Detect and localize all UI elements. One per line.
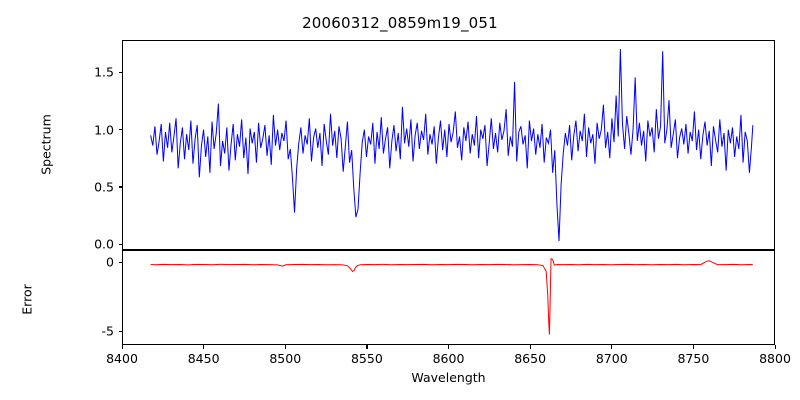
- x-tick-label: 8600: [433, 351, 465, 366]
- error-y-tick-label: 0: [60, 255, 114, 270]
- x-tick: [366, 345, 367, 349]
- error-y-tick: [119, 262, 123, 263]
- spectrum-line-series: [123, 41, 774, 249]
- spectrum-y-tick-label: 1.5: [60, 65, 114, 80]
- error-trace: [151, 259, 753, 335]
- x-tick-label: 8500: [269, 351, 301, 366]
- spectrum-y-tick-label: 0.0: [60, 237, 114, 252]
- x-tick-label: 8700: [596, 351, 628, 366]
- spectrum-y-tick: [119, 129, 123, 130]
- x-tick-label: 8450: [188, 351, 220, 366]
- x-tick: [693, 345, 694, 349]
- x-tick: [285, 345, 286, 349]
- x-tick-label: 8650: [514, 351, 546, 366]
- x-tick-label: 8550: [351, 351, 383, 366]
- spectrum-plot-canvas: [123, 41, 774, 249]
- x-tick-label: 8400: [106, 351, 138, 366]
- x-axis-label: Wavelength: [122, 370, 775, 385]
- error-y-tick-label: -5: [60, 324, 114, 339]
- x-tick: [448, 345, 449, 349]
- error-y-axis-label: Error: [20, 270, 35, 330]
- spectrum-y-tick-label: 1.0: [60, 122, 114, 137]
- spectrum-axes: [122, 40, 775, 250]
- x-tick: [203, 345, 204, 349]
- x-tick-label: 8800: [759, 351, 791, 366]
- figure-canvas: 20060312_0859m19_051 Spectrum 0.00.51.01…: [0, 0, 800, 400]
- spectrum-y-tick: [119, 72, 123, 73]
- spectrum-y-tick-label: 0.5: [60, 179, 114, 194]
- error-axes: [122, 250, 775, 345]
- spectrum-trace: [151, 49, 753, 241]
- x-tick: [775, 345, 776, 349]
- spectrum-y-axis-label: Spectrum: [39, 95, 54, 195]
- x-tick: [611, 345, 612, 349]
- error-line-series: [123, 251, 774, 344]
- error-y-tick: [119, 331, 123, 332]
- spectrum-y-tick: [119, 244, 123, 245]
- x-tick-label: 8750: [677, 351, 709, 366]
- spectrum-y-tick: [119, 186, 123, 187]
- error-plot-canvas: [123, 251, 774, 344]
- page-title: 20060312_0859m19_051: [0, 14, 800, 32]
- x-tick: [530, 345, 531, 349]
- x-tick: [122, 345, 123, 349]
